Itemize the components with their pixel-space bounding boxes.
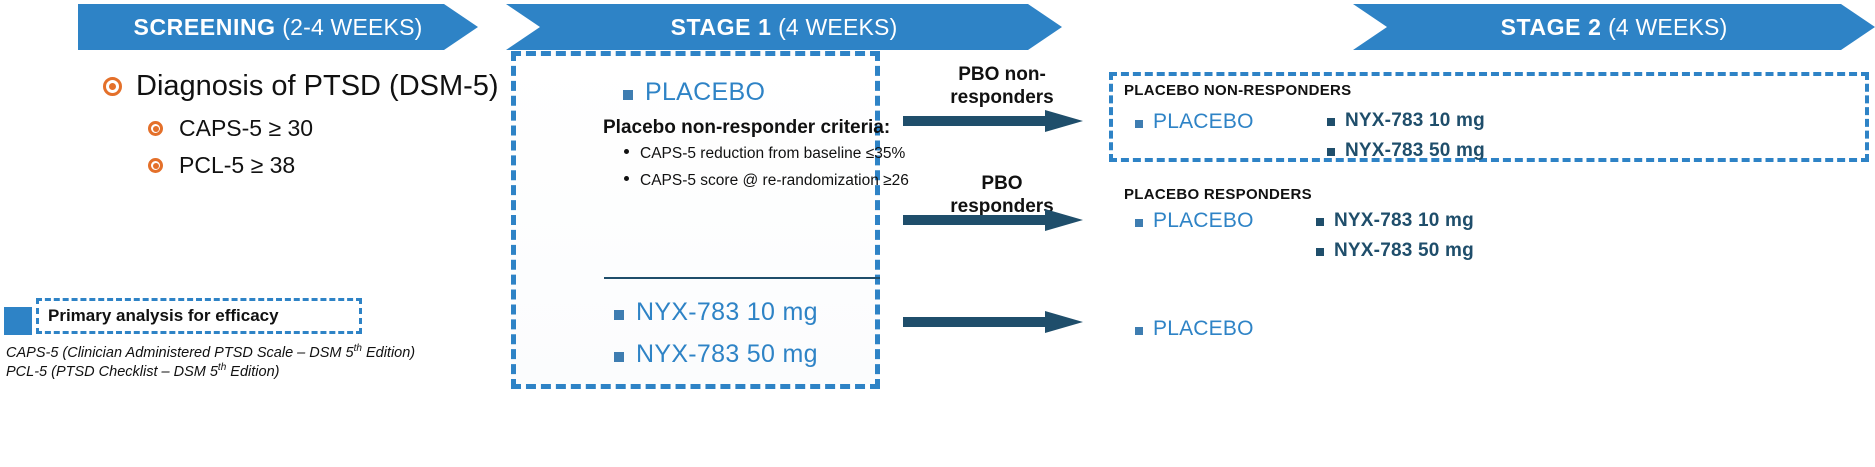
stage-2-placebo-responders-title: PLACEBO RESPONDERS — [1124, 186, 1312, 203]
trial-design-diagram: SCREENING (2-4 WEEKS) STAGE 1 (4 WEEKS) … — [0, 0, 1875, 467]
transition-label-pbo-responders-line1: PBO — [908, 172, 1096, 195]
legend-primary-analysis-label: Primary analysis for efficacy — [48, 306, 279, 326]
square-bullet-icon — [1316, 218, 1324, 226]
footnote-pcl5-text: PCL-5 (PTSD Checklist – DSM 5 — [6, 364, 218, 380]
stage-1-arm-placebo: PLACEBO — [623, 78, 765, 107]
square-bullet-icon — [1135, 219, 1143, 227]
stage-2-nonresponder-arm-placebo-label: PLACEBO — [1153, 110, 1254, 134]
stage-2-active-continuation-arm-placebo: PLACEBO — [1135, 317, 1254, 341]
stage-2-placebo-non-responders-title: PLACEBO NON-RESPONDERS — [1124, 82, 1351, 99]
screening-criterion-pcl5-label: PCL-5 ≥ 38 — [179, 152, 295, 179]
square-bullet-icon — [614, 310, 624, 320]
stage-1-criteria-title: Placebo non-responder criteria: — [603, 117, 890, 139]
stage-banner-screening-label: SCREENING (2-4 WEEKS) — [134, 14, 423, 41]
stage-1-arm-nyx783-10mg-label: NYX-783 10 mg — [636, 298, 818, 327]
stage-1-criterion-1: CAPS-5 reduction from baseline ≤35% — [624, 145, 905, 163]
square-bullet-icon — [1316, 248, 1324, 256]
orange-circle-bullet-icon — [148, 121, 163, 136]
screening-diagnosis-label: Diagnosis of PTSD (DSM-5) — [136, 70, 499, 103]
footnote-caps5-tail: Edition) — [362, 345, 415, 361]
stage-2-nonresponder-arm-nyx783-50mg-label: NYX-783 50 mg — [1345, 140, 1485, 162]
stage-2-nonresponder-arm-placebo: PLACEBO — [1135, 110, 1254, 134]
transition-arrow-responders-icon — [903, 209, 1083, 231]
stage-1-arm-nyx783-50mg: NYX-783 50 mg — [614, 340, 818, 369]
stage-2-responder-arm-nyx783-10mg-label: NYX-783 10 mg — [1334, 210, 1474, 232]
stage-banner-stage-1: STAGE 1 (4 WEEKS) — [506, 4, 1062, 50]
stage-1-arm-nyx783-10mg: NYX-783 10 mg — [614, 298, 818, 327]
stage-banner-screening: SCREENING (2-4 WEEKS) — [78, 4, 478, 50]
legend-blue-swatch — [4, 307, 32, 335]
stage-banner-stage-2: STAGE 2 (4 WEEKS) — [1353, 4, 1875, 50]
stage-banner-stage-2-label: STAGE 2 (4 WEEKS) — [1501, 14, 1728, 41]
stage-banner-stage-1-label: STAGE 1 (4 WEEKS) — [671, 14, 898, 41]
orange-circle-bullet-icon — [148, 158, 163, 173]
square-bullet-icon — [1327, 148, 1335, 156]
stage-2-responder-arm-nyx783-50mg-label: NYX-783 50 mg — [1334, 240, 1474, 262]
transition-arrow-non-responders-icon — [903, 110, 1083, 132]
legend-primary-analysis-box: Primary analysis for efficacy — [36, 298, 362, 334]
stage-1-divider-line — [604, 277, 880, 279]
footnote-caps5-text: CAPS-5 (Clinician Administered PTSD Scal… — [6, 345, 354, 361]
transition-label-pbo-non-responders-line1: PBO non- — [908, 63, 1096, 86]
orange-circle-bullet-icon — [103, 77, 122, 96]
stage-2-nonresponder-arm-nyx783-50mg: NYX-783 50 mg — [1327, 140, 1485, 162]
square-bullet-icon — [614, 352, 624, 362]
footnote-pcl5-sup: th — [218, 362, 226, 373]
dot-bullet-icon — [624, 149, 629, 154]
stage-2-responder-arm-nyx783-10mg: NYX-783 10 mg — [1316, 210, 1474, 232]
stage-1-arm-placebo-label: PLACEBO — [645, 78, 765, 107]
square-bullet-icon — [623, 90, 633, 100]
transition-label-pbo-non-responders-line2: responders — [908, 86, 1096, 109]
screening-criterion-caps5-row: CAPS-5 ≥ 30 — [148, 115, 313, 142]
square-bullet-icon — [1135, 120, 1143, 128]
square-bullet-icon — [1327, 118, 1335, 126]
stage-1-arm-nyx783-50mg-label: NYX-783 50 mg — [636, 340, 818, 369]
dot-bullet-icon — [624, 176, 629, 181]
footnote-pcl5-tail: Edition) — [226, 364, 279, 380]
screening-criterion-caps5-label: CAPS-5 ≥ 30 — [179, 115, 313, 142]
stage-2-nonresponder-arm-nyx783-10mg-label: NYX-783 10 mg — [1345, 110, 1485, 132]
footnote-caps5-sup: th — [354, 343, 362, 354]
transition-arrow-active-arms-icon — [903, 311, 1083, 333]
footnote-caps5: CAPS-5 (Clinician Administered PTSD Scal… — [6, 343, 415, 361]
stage-2-active-continuation-arm-placebo-label: PLACEBO — [1153, 317, 1254, 341]
footnote-pcl5: PCL-5 (PTSD Checklist – DSM 5th Edition) — [6, 362, 279, 380]
screening-diagnosis-row: Diagnosis of PTSD (DSM-5) — [103, 70, 499, 103]
stage-2-responder-arm-placebo-label: PLACEBO — [1153, 209, 1254, 233]
stage-1-criterion-2: CAPS-5 score @ re-randomization ≥26 — [624, 172, 909, 190]
stage-2-nonresponder-arm-nyx783-10mg: NYX-783 10 mg — [1327, 110, 1485, 132]
transition-label-pbo-non-responders: PBO non- responders — [908, 63, 1096, 109]
screening-criterion-pcl5-row: PCL-5 ≥ 38 — [148, 152, 295, 179]
stage-1-criterion-1-label: CAPS-5 reduction from baseline ≤35% — [640, 145, 905, 163]
stage-1-criterion-2-label: CAPS-5 score @ re-randomization ≥26 — [640, 172, 909, 190]
square-bullet-icon — [1135, 327, 1143, 335]
stage-2-responder-arm-placebo: PLACEBO — [1135, 209, 1254, 233]
stage-2-responder-arm-nyx783-50mg: NYX-783 50 mg — [1316, 240, 1474, 262]
